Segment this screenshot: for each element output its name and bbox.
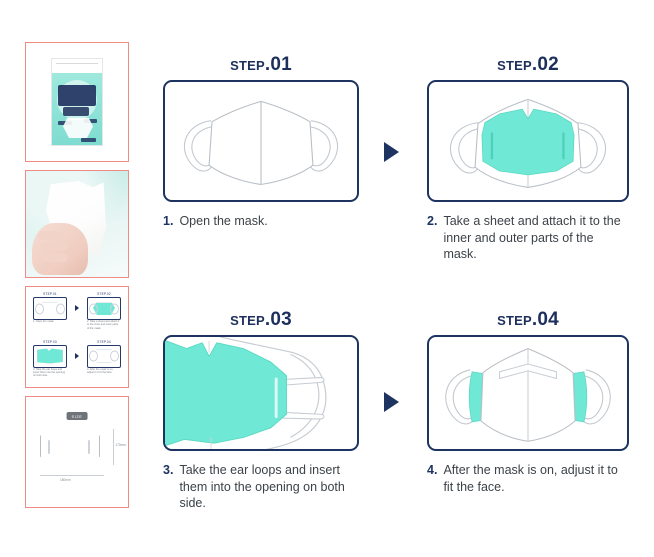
thumbnail-step-diagram[interactable]: STEP.01 1. Open the mask. STEP.02 bbox=[25, 286, 129, 388]
mini-step-3-box bbox=[33, 345, 67, 368]
arrow-right-icon-step1-step2 bbox=[384, 142, 399, 162]
mini-arrow-1-cell bbox=[72, 291, 82, 336]
step-card-03: STEP.03 3. bbox=[163, 310, 359, 512]
mini-step-1: STEP.01 1. Open the mask. bbox=[31, 291, 69, 336]
finger-3 bbox=[43, 253, 68, 262]
package-artwork bbox=[51, 58, 103, 146]
step-02-caption: 2. Take a sheet and attach it to the inn… bbox=[427, 213, 629, 263]
step-02-number: 2. bbox=[427, 213, 437, 263]
size-artwork: SIZE 170mm 180mm bbox=[26, 397, 128, 507]
size-width-line bbox=[40, 475, 104, 476]
thumbnail-size-diagram[interactable]: SIZE 170mm 180mm bbox=[25, 396, 129, 508]
mini-step-1-caption: 1. Open the mask. bbox=[33, 320, 67, 323]
step-01-caption-text: Open the mask. bbox=[179, 213, 359, 230]
step-04-title: STEP.04 bbox=[427, 310, 629, 329]
step-04-label-small: STEP bbox=[497, 313, 532, 328]
step-02-caption-text: Take a sheet and attach it to the inner … bbox=[443, 213, 629, 263]
mini-step-2: STEP.02 2. Take a sheet and attach it to… bbox=[85, 291, 123, 336]
step-01-title: STEP.01 bbox=[163, 55, 359, 74]
mini-loop-left bbox=[89, 351, 98, 362]
step-02-label-small: STEP bbox=[497, 58, 532, 73]
step-01-illustration bbox=[163, 80, 359, 202]
mini-step-3-label: STEP.03 bbox=[31, 340, 69, 344]
photo-background bbox=[26, 171, 128, 277]
ear-loop-insert-drawing bbox=[165, 337, 357, 449]
thumbnail-rail: STEP.01 1. Open the mask. STEP.02 bbox=[25, 42, 129, 508]
step-card-02: STEP.02 2. Take a sheet and attach it bbox=[427, 55, 629, 263]
package-mask-illustration bbox=[63, 118, 93, 138]
mini-loop-right bbox=[56, 303, 65, 314]
mini-step-2-caption: 2. Take a sheet and attach it to the inn… bbox=[87, 320, 121, 330]
mini-step-4: STEP.04 4. After the mask is on, adjust … bbox=[85, 339, 123, 384]
mini-loop-right bbox=[110, 303, 119, 314]
mini-sheet-zoom bbox=[37, 349, 63, 364]
step-01-caption: 1. Open the mask. bbox=[163, 213, 359, 230]
step-04-caption-text: After the mask is on, adjust it to fit t… bbox=[443, 462, 629, 495]
package-title-block bbox=[58, 85, 96, 106]
step-02-label-large: .02 bbox=[532, 54, 559, 75]
finger-2 bbox=[40, 242, 68, 251]
mini-loop-left bbox=[35, 303, 44, 314]
mini-step-2-label: STEP.02 bbox=[85, 292, 123, 296]
step-card-04: STEP.04 4. After the mask is on, adju bbox=[427, 310, 629, 495]
step-02-illustration bbox=[427, 80, 629, 202]
step-04-caption: 4. After the mask is on, adjust it to fi… bbox=[427, 462, 629, 495]
step-04-illustration bbox=[427, 335, 629, 451]
step-03-label-large: .03 bbox=[265, 309, 292, 330]
step-03-title: STEP.03 bbox=[163, 310, 359, 329]
step-03-illustration bbox=[163, 335, 359, 451]
mask-open-drawing bbox=[165, 82, 357, 200]
size-width-label: 180mm bbox=[60, 478, 71, 482]
mini-arrow-2-cell bbox=[72, 339, 82, 384]
step-03-number: 3. bbox=[163, 462, 173, 512]
mini-loop-right bbox=[110, 351, 119, 362]
step-01-label-large: .01 bbox=[265, 54, 292, 75]
step-01-number: 1. bbox=[163, 213, 173, 230]
step-03-label-small: STEP bbox=[230, 313, 265, 328]
size-pleat-right bbox=[88, 440, 90, 454]
thumbnail-product-package[interactable] bbox=[25, 42, 129, 162]
size-height-line bbox=[113, 429, 114, 465]
step-04-label-large: .04 bbox=[532, 309, 559, 330]
mini-step-4-caption: 4. After the mask is on, adjust it to fi… bbox=[87, 368, 121, 375]
size-height-label: 170mm bbox=[115, 443, 126, 447]
mini-arrow-right-icon-1 bbox=[75, 305, 79, 311]
mini-step-grid: STEP.01 1. Open the mask. STEP.02 bbox=[31, 291, 123, 383]
step-03-caption-text: Take the ear loops and insert them into … bbox=[179, 462, 359, 512]
instruction-page: STEP.01 1. Open the mask. STEP.02 bbox=[0, 0, 654, 557]
mini-arrow-right-icon-2 bbox=[75, 353, 79, 359]
step-card-01: STEP.01 1. Open the mask. bbox=[163, 55, 359, 230]
package-top-line bbox=[56, 63, 98, 64]
step-04-number: 4. bbox=[427, 462, 437, 495]
mini-step-3: STEP.03 3. Take the ear loops and insert… bbox=[31, 339, 69, 384]
thumbnail-hand-photo[interactable] bbox=[25, 170, 129, 278]
mini-step-3-caption: 3. Take the ear loops and insert them in… bbox=[33, 368, 67, 378]
finger-1 bbox=[38, 231, 68, 240]
mini-step-4-label: STEP.04 bbox=[85, 340, 123, 344]
step-02-title: STEP.02 bbox=[427, 55, 629, 74]
mini-step-2-box bbox=[87, 297, 121, 320]
mask-worn-drawing bbox=[429, 337, 627, 449]
step-01-label-small: STEP bbox=[230, 58, 265, 73]
package-subtitle-block bbox=[63, 107, 89, 116]
mini-loop-left bbox=[89, 303, 98, 314]
arrow-right-icon-step3-step4 bbox=[384, 392, 399, 412]
package-bar-bottom bbox=[81, 138, 96, 142]
size-badge: SIZE bbox=[67, 412, 88, 420]
mini-step-1-box bbox=[33, 297, 67, 320]
size-pleat-left bbox=[48, 440, 50, 454]
hand bbox=[32, 223, 88, 275]
mini-step-1-label: STEP.01 bbox=[31, 292, 69, 296]
mini-step-4-box bbox=[87, 345, 121, 368]
step-03-caption: 3. Take the ear loops and insert them in… bbox=[163, 462, 359, 512]
mask-with-sheet-drawing bbox=[429, 82, 627, 200]
